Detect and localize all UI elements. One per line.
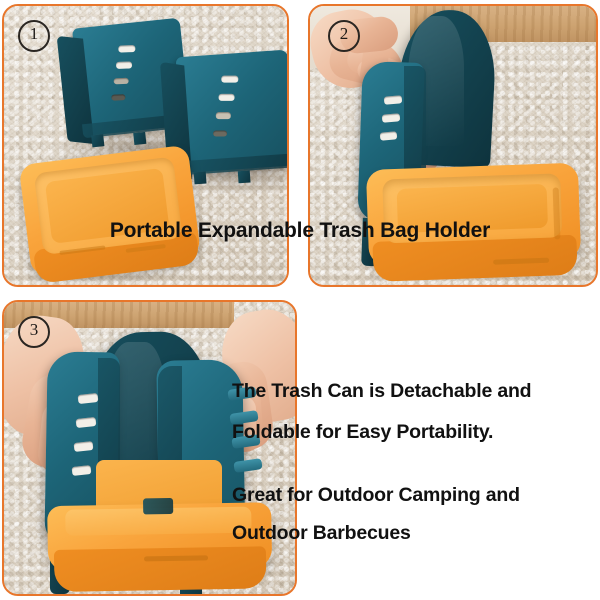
panel-attaching-lid: 2 (308, 4, 598, 287)
slot (380, 131, 398, 140)
step-badge-1: 1 (18, 20, 50, 52)
step-badge-2: 2 (328, 20, 360, 52)
step-badge-3: 3 (18, 316, 50, 348)
panel-assembled-holder: 3 (2, 300, 297, 596)
photo-disassembled-parts (4, 6, 287, 285)
orange-base-tray (47, 502, 293, 594)
caption-line-1: The Trash Can is Detachable and (232, 380, 531, 403)
caption-line-2: Foldable for Easy Portability. (232, 421, 493, 444)
caption-line-3: Great for Outdoor Camping and (232, 484, 520, 507)
headline-caption: Portable Expandable Trash Bag Holder (0, 219, 600, 243)
slot (118, 45, 135, 53)
slot (114, 78, 129, 85)
clip-tab (233, 458, 262, 473)
slot (213, 130, 227, 136)
photo-assembled-holder (4, 302, 295, 594)
slot (221, 76, 238, 83)
orange-base-tray (19, 144, 212, 285)
slot (116, 61, 132, 69)
slot (219, 94, 235, 101)
slot (111, 94, 125, 100)
infographic-stage: 1 (0, 0, 600, 600)
slot (382, 113, 401, 123)
slot (216, 112, 231, 119)
slot (384, 95, 403, 105)
caption-line-4: Outdoor Barbecues (232, 522, 411, 545)
panel-disassembled-parts: 1 (2, 4, 289, 287)
